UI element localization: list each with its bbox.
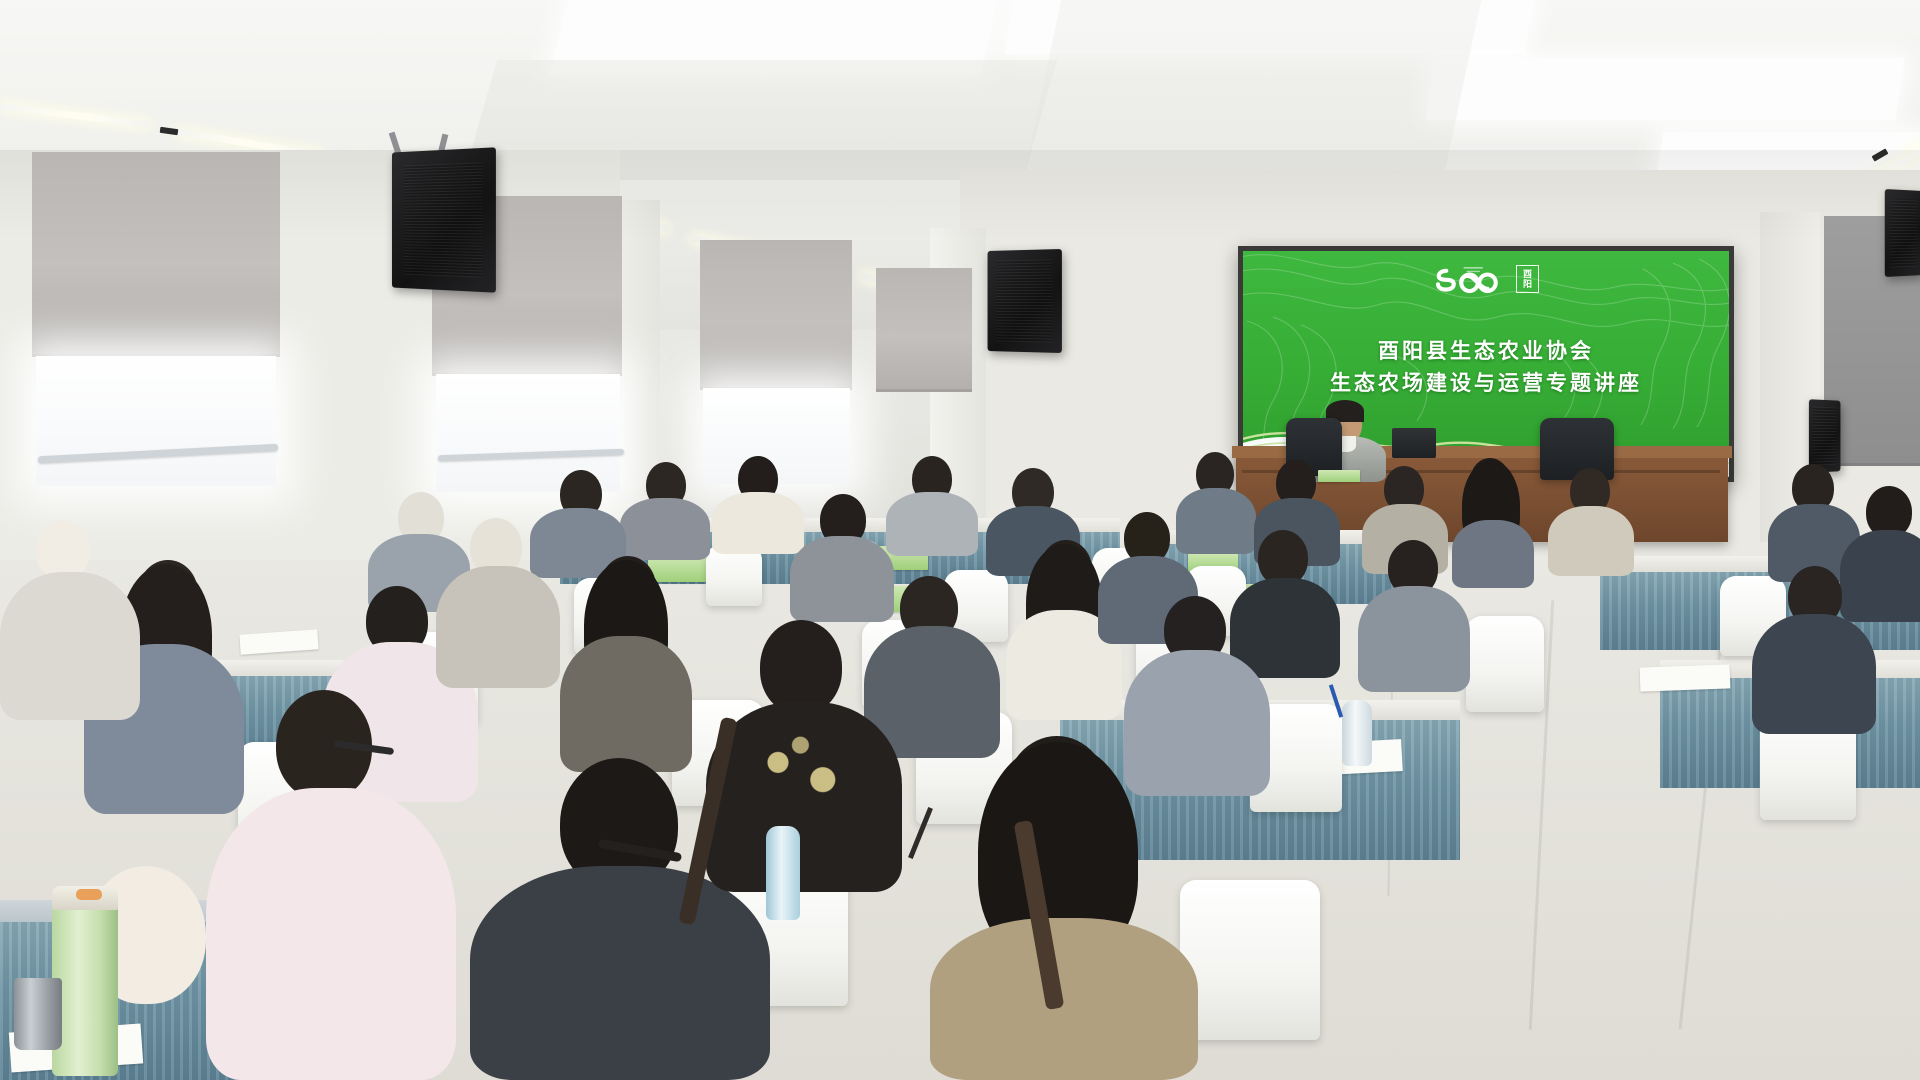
audience-body (1124, 650, 1270, 796)
seal-char-2: 阳 (1523, 279, 1532, 289)
window-glass (36, 356, 276, 486)
audience-body (886, 492, 978, 556)
audience-body (436, 566, 560, 688)
wall-speaker (1809, 399, 1841, 473)
audience-body (620, 498, 710, 560)
audience-body (1752, 614, 1876, 734)
audience-body (1548, 506, 1634, 576)
audience-body (1840, 530, 1920, 622)
lower-third-graphics: 酉阳新闻 YOUYANG XINWEN 县生态农业协会举办生态农场建设与运营专题… (0, 870, 1920, 1080)
wall-speaker (392, 147, 496, 292)
led-title-line-1: 酉阳县生态农业协会 (1243, 335, 1729, 365)
presenter-laptop (1392, 428, 1436, 458)
audience-body (1358, 586, 1470, 692)
window-blind[interactable] (700, 240, 852, 390)
audience-body (790, 536, 894, 622)
window-blind[interactable] (32, 152, 280, 357)
window-blind[interactable] (876, 268, 972, 392)
audience-body (560, 636, 692, 772)
wall-speaker (1885, 189, 1920, 277)
seal-char-1: 酉 (1523, 269, 1532, 279)
audience-body (0, 572, 140, 720)
led-title-line-2: 生态农场建设与运营专题讲座 (1243, 367, 1729, 397)
broadcast-frame: 酉 阳 酉阳县生态农业协会 生态农场建设与运营专题讲座 (0, 0, 1920, 1080)
foreground-jacket-print (736, 724, 876, 820)
ceiling-light-panel (1425, 58, 1905, 120)
audience-body (712, 492, 804, 554)
wall-shading (0, 150, 1920, 240)
led-brand-logo: 酉 阳 (1433, 264, 1539, 294)
audience-chair (1466, 616, 1544, 712)
wall-speaker (988, 249, 1062, 353)
logo-seal-icon: 酉 阳 (1516, 265, 1539, 293)
presenter-nameplate (1318, 470, 1360, 482)
foreground-head (760, 620, 842, 714)
audience-body (1452, 520, 1534, 588)
audience-head (36, 520, 90, 580)
logo-800-icon (1433, 264, 1509, 294)
stage-chair (1540, 418, 1614, 480)
water-bottle (1342, 700, 1372, 766)
audience-body (1176, 488, 1256, 554)
document-on-table (1640, 664, 1731, 691)
audience-body (1230, 578, 1340, 678)
